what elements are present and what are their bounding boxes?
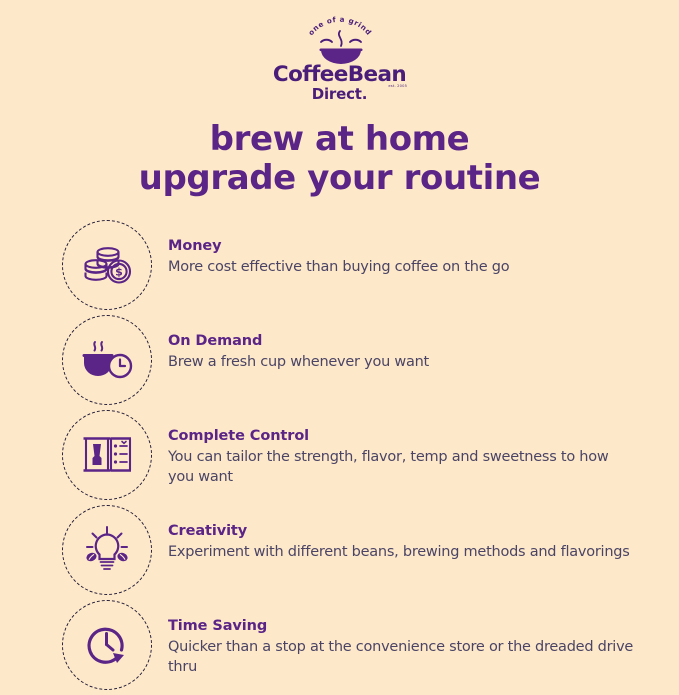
feature-text-creativity: Creativity Experiment with different bea…	[152, 505, 630, 562]
stacked-coins-dollar-icon: $	[62, 220, 152, 310]
brand-name-line1: CoffeeBean	[273, 64, 406, 86]
headline-line-1: brew at home	[0, 120, 679, 159]
feature-item-money: $ Money More cost effective than buying …	[62, 220, 649, 315]
feature-title: Creativity	[168, 523, 630, 540]
clock-arrow-icon	[62, 600, 152, 690]
feature-description: Quicker than a stop at the convenience s…	[168, 637, 638, 678]
logo-tagline-text: one of a grind	[306, 15, 373, 37]
feature-title: Money	[168, 238, 509, 255]
brand-wordmark: CoffeeBean Direct. est. 2005	[273, 64, 406, 102]
coffee-cup-steam-logo-icon: one of a grind	[281, 10, 399, 66]
lightbulb-coffee-beans-icon	[62, 505, 152, 595]
feature-description: More cost effective than buying coffee o…	[168, 257, 509, 278]
coffee-brewer-control-panel-icon	[62, 410, 152, 500]
feature-description: Brew a fresh cup whenever you want	[168, 352, 429, 373]
feature-list: $ Money More cost effective than buying …	[0, 220, 679, 695]
feature-item-creativity: Creativity Experiment with different bea…	[62, 505, 649, 600]
feature-title: Time Saving	[168, 618, 638, 635]
brand-logo: one of a grind CoffeeBean Direct. est. 2…	[0, 0, 679, 102]
page-title: brew at home upgrade your routine	[0, 120, 679, 199]
svg-text:one of a grind: one of a grind	[306, 15, 373, 37]
feature-item-time-saving: Time Saving Quicker than a stop at the c…	[62, 600, 649, 695]
feature-description: You can tailor the strength, flavor, tem…	[168, 447, 638, 488]
headline-line-2: upgrade your routine	[0, 159, 679, 198]
feature-item-complete-control: Complete Control You can tailor the stre…	[62, 410, 649, 505]
svg-text:$: $	[115, 266, 123, 279]
feature-text-on-demand: On Demand Brew a fresh cup whenever you …	[152, 315, 429, 372]
feature-item-on-demand: On Demand Brew a fresh cup whenever you …	[62, 315, 649, 410]
feature-description: Experiment with different beans, brewing…	[168, 542, 630, 563]
feature-title: Complete Control	[168, 428, 638, 445]
feature-text-time-saving: Time Saving Quicker than a stop at the c…	[152, 600, 638, 678]
feature-text-money: Money More cost effective than buying co…	[152, 220, 509, 277]
brand-established: est. 2005	[388, 85, 407, 89]
brand-name-line2: Direct.	[273, 87, 406, 102]
feature-text-complete-control: Complete Control You can tailor the stre…	[152, 410, 638, 488]
feature-title: On Demand	[168, 333, 429, 350]
coffee-cup-clock-icon	[62, 315, 152, 405]
